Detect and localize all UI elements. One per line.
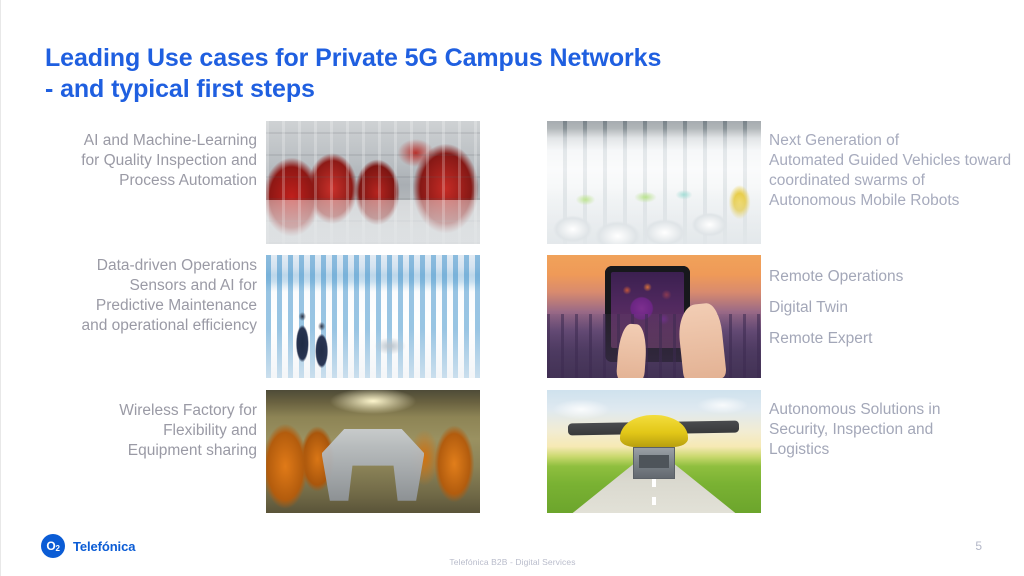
caption-data-driven-operations: Data-driven Operations Sensors and AI fo… xyxy=(25,256,257,337)
drone-body xyxy=(620,415,688,447)
caption-remote-operations: Remote Operations Digital Twin Remote Ex… xyxy=(769,261,1017,354)
o2-letter: O xyxy=(46,539,55,553)
use-case-row: Data-driven Operations Sensors and AI fo… xyxy=(1,255,1024,380)
caption-automated-guided-vehicles: Next Generation of Automated Guided Vehi… xyxy=(769,131,1017,212)
use-case-row: AI and Machine-Learning for Quality Insp… xyxy=(1,121,1024,246)
page-title: Leading Use cases for Private 5G Campus … xyxy=(45,43,805,105)
logo-wordmark: Telefónica xyxy=(73,539,135,554)
image-automated-guided-vehicles xyxy=(547,121,761,244)
slide: Leading Use cases for Private 5G Campus … xyxy=(0,0,1024,576)
page-title-line-1: Leading Use cases for Private 5G Campus … xyxy=(45,43,805,74)
o2-subscript: 2 xyxy=(55,544,59,553)
image-orange-robots-car-body xyxy=(266,390,480,513)
telefonica-logo: O2 Telefónica xyxy=(41,534,135,558)
image-tablet-industrial-dashboard xyxy=(547,255,761,378)
image-smart-factory-overview xyxy=(266,255,480,378)
caption-wireless-factory: Wireless Factory for Flexibility and Equ… xyxy=(25,401,257,461)
page-title-line-2: - and typical first steps xyxy=(45,74,805,105)
use-case-grid: AI and Machine-Learning for Quality Insp… xyxy=(1,112,1024,522)
o2-circle-icon: O2 xyxy=(41,534,65,558)
image-delivery-drone xyxy=(547,390,761,513)
page-number: 5 xyxy=(975,539,982,553)
image-red-industrial-robot-arms xyxy=(266,121,480,244)
caption-ai-quality-inspection: AI and Machine-Learning for Quality Insp… xyxy=(25,131,257,191)
use-case-row: Wireless Factory for Flexibility and Equ… xyxy=(1,390,1024,515)
drone-payload-box xyxy=(633,447,676,479)
footer-note: Telefónica B2B - Digital Services xyxy=(1,557,1024,567)
caption-autonomous-solutions: Autonomous Solutions in Security, Inspec… xyxy=(769,400,1017,460)
